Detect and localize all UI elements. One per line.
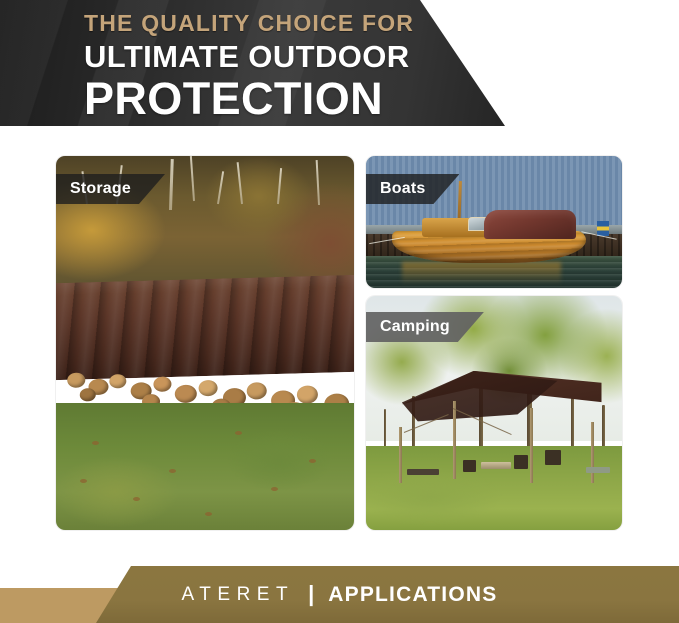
camping-grass bbox=[366, 446, 622, 530]
brand-name: ATERET bbox=[182, 584, 295, 606]
camping-pole bbox=[530, 408, 533, 483]
header-banner: THE QUALITY CHOICE FOR ULTIMATE OUTDOOR … bbox=[0, 0, 520, 128]
camping-cot bbox=[407, 469, 439, 475]
panel-label-boats-text: Boats bbox=[380, 180, 425, 198]
panel-label-camping-text: Camping bbox=[380, 318, 450, 336]
camping-pole bbox=[591, 422, 594, 483]
header-text-block: THE QUALITY CHOICE FOR ULTIMATE OUTDOOR … bbox=[84, 12, 414, 121]
camping-table bbox=[481, 462, 511, 469]
brand-separator: | bbox=[308, 583, 314, 607]
camping-chair bbox=[545, 450, 561, 465]
panel-label-storage-text: Storage bbox=[70, 180, 131, 198]
panel-camping: Camping bbox=[366, 296, 622, 530]
camping-chair bbox=[463, 460, 476, 472]
header-title-line-1: ULTIMATE OUTDOOR bbox=[84, 41, 414, 72]
footer-brand-block: ATERET | APPLICATIONS bbox=[0, 566, 679, 623]
header-title-line-2: PROTECTION bbox=[84, 76, 414, 121]
camping-pole bbox=[399, 427, 402, 483]
boats-flag-icon bbox=[597, 221, 609, 236]
storage-photo bbox=[56, 156, 354, 530]
storage-grass bbox=[56, 403, 354, 530]
boats-tarp-cover bbox=[484, 210, 576, 239]
panel-storage: Storage bbox=[56, 156, 354, 530]
panel-boats: Boats bbox=[366, 156, 622, 288]
camping-pole bbox=[453, 401, 456, 478]
boats-reflection bbox=[402, 262, 561, 286]
camping-chair bbox=[514, 455, 528, 469]
header-tagline: THE QUALITY CHOICE FOR bbox=[84, 12, 414, 35]
camping-bench bbox=[586, 467, 610, 473]
brand-section-label: APPLICATIONS bbox=[328, 583, 497, 607]
